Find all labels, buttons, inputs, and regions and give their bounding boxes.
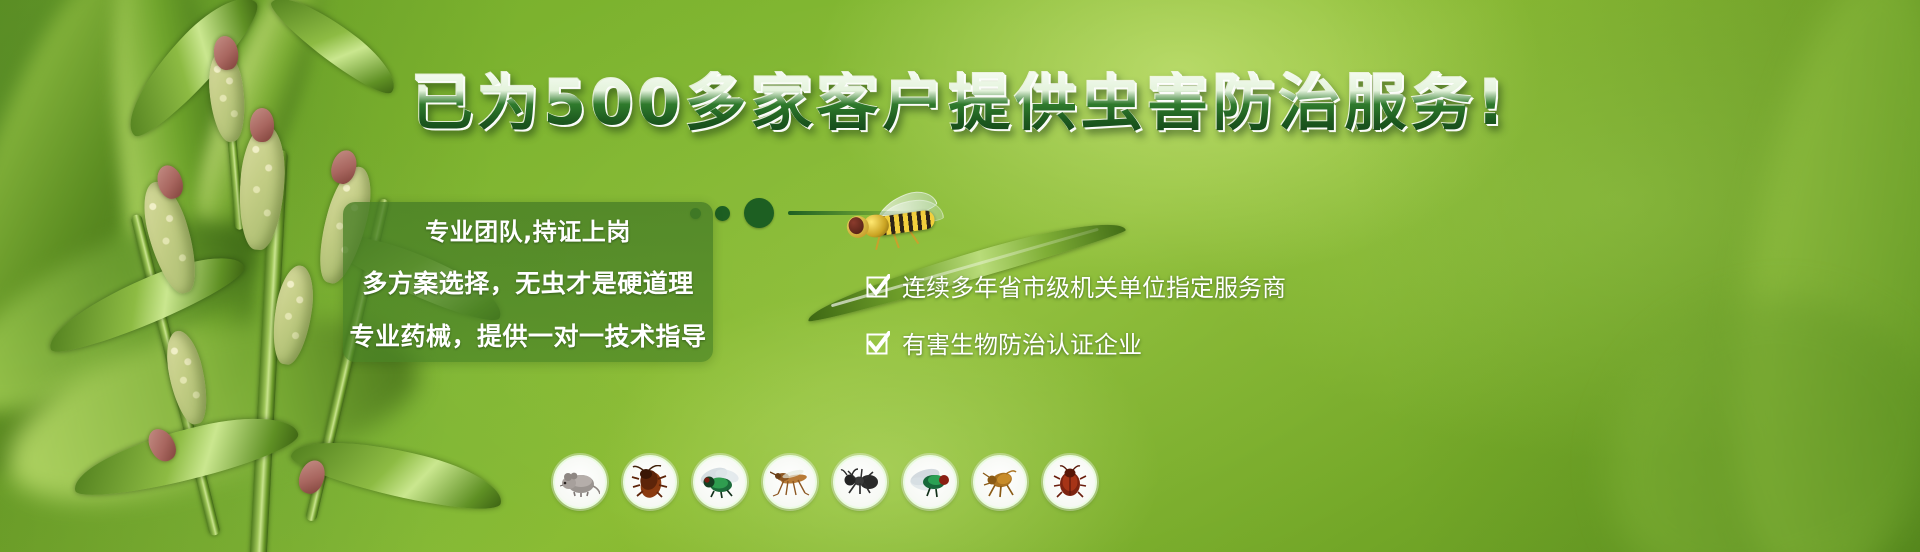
plant-seed-head: [160, 328, 213, 428]
hoverfly-leg: [892, 232, 900, 249]
checklist-item-label: 连续多年省市级机关单位指定服务商: [902, 268, 1286, 303]
flea-icon[interactable]: [973, 455, 1027, 509]
checkbox-checked-icon: [866, 274, 890, 298]
fly-icon[interactable]: [693, 455, 747, 509]
pest-icon-strip: [553, 455, 1097, 509]
divider-rule: [788, 211, 910, 215]
checklist-item-label: 有害生物防治认证企业: [902, 325, 1142, 360]
cockroach-icon[interactable]: [623, 455, 677, 509]
ant-icon[interactable]: [833, 455, 887, 509]
decorative-dots: [690, 196, 910, 230]
blowfly-icon[interactable]: [903, 455, 957, 509]
checkbox-checked-icon: [866, 331, 890, 355]
selling-points-box: 专业团队,持证上岗 多方案选择，无虫才是硬道理 专业药械，提供一对一技术指导: [343, 202, 713, 362]
checklist-item: 连续多年省市级机关单位指定服务商: [866, 268, 1286, 303]
selling-point-line-1: 专业团队,持证上岗: [425, 212, 631, 247]
banner-headline: 已为500多家客户提供虫害防治服务!: [0, 72, 1920, 134]
pest-control-hero-banner: 已为500多家客户提供虫害防治服务! 专业团队,持证上岗 多方案选择，无虫才是硬…: [0, 0, 1920, 552]
selling-point-line-3: 专业药械，提供一对一技术指导: [350, 317, 707, 353]
mosquito-icon[interactable]: [763, 455, 817, 509]
dot-medium-icon: [715, 206, 730, 221]
bedbug-icon[interactable]: [1043, 455, 1097, 509]
rodent-icon[interactable]: [553, 455, 607, 509]
selling-point-line-2: 多方案选择，无虫才是硬道理: [362, 264, 694, 300]
checklist-item: 有害生物防治认证企业: [866, 325, 1286, 360]
dot-large-icon: [744, 198, 774, 228]
credentials-checklist: 连续多年省市级机关单位指定服务商 有害生物防治认证企业: [866, 268, 1286, 360]
